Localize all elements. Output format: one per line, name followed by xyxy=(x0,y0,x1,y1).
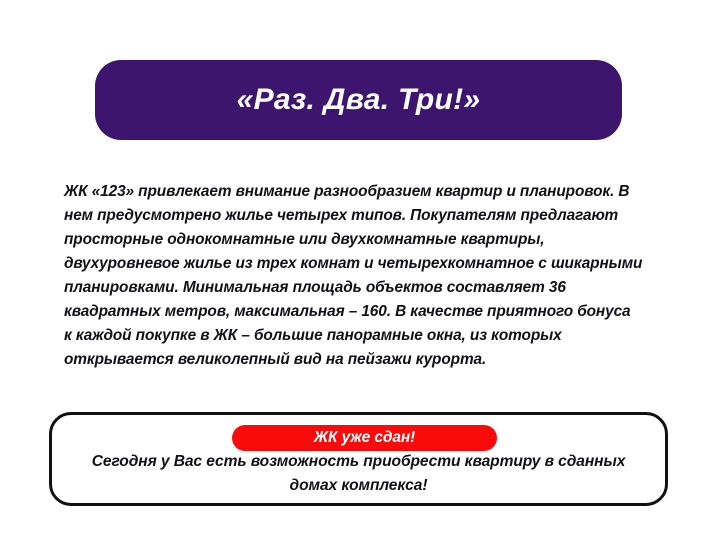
page-title: «Раз. Два. Три!» xyxy=(237,85,481,115)
body-line: нем предусмотрено жилье четырех типов. П… xyxy=(64,204,664,228)
callout-text: Сегодня у Вас есть возможность приобрест… xyxy=(49,450,668,498)
body-line: квадратных метров, максимальная – 160. В… xyxy=(64,300,664,324)
body-line: открывается великолепный вид на пейзажи … xyxy=(64,348,664,372)
callout-line: домах комплекса! xyxy=(49,474,668,498)
status-badge-label: ЖК уже сдан! xyxy=(314,430,416,446)
body-line: ЖК «123» привлекает внимание разнообрази… xyxy=(64,180,664,204)
body-paragraph: ЖК «123» привлекает внимание разнообрази… xyxy=(64,180,664,372)
body-line: двухуровневое жилье из трех комнат и чет… xyxy=(64,252,664,276)
status-badge: ЖК уже сдан! xyxy=(232,425,497,451)
title-banner: «Раз. Два. Три!» xyxy=(95,60,622,140)
body-line: к каждой покупке в ЖК – большие панорамн… xyxy=(64,324,664,348)
body-line: планировками. Минимальная площадь объект… xyxy=(64,276,664,300)
promo-slide: «Раз. Два. Три!» ЖК «123» привлекает вни… xyxy=(0,0,716,540)
callout-line: Сегодня у Вас есть возможность приобрест… xyxy=(49,450,668,474)
body-line: просторные однокомнатные или двухкомнатн… xyxy=(64,228,664,252)
